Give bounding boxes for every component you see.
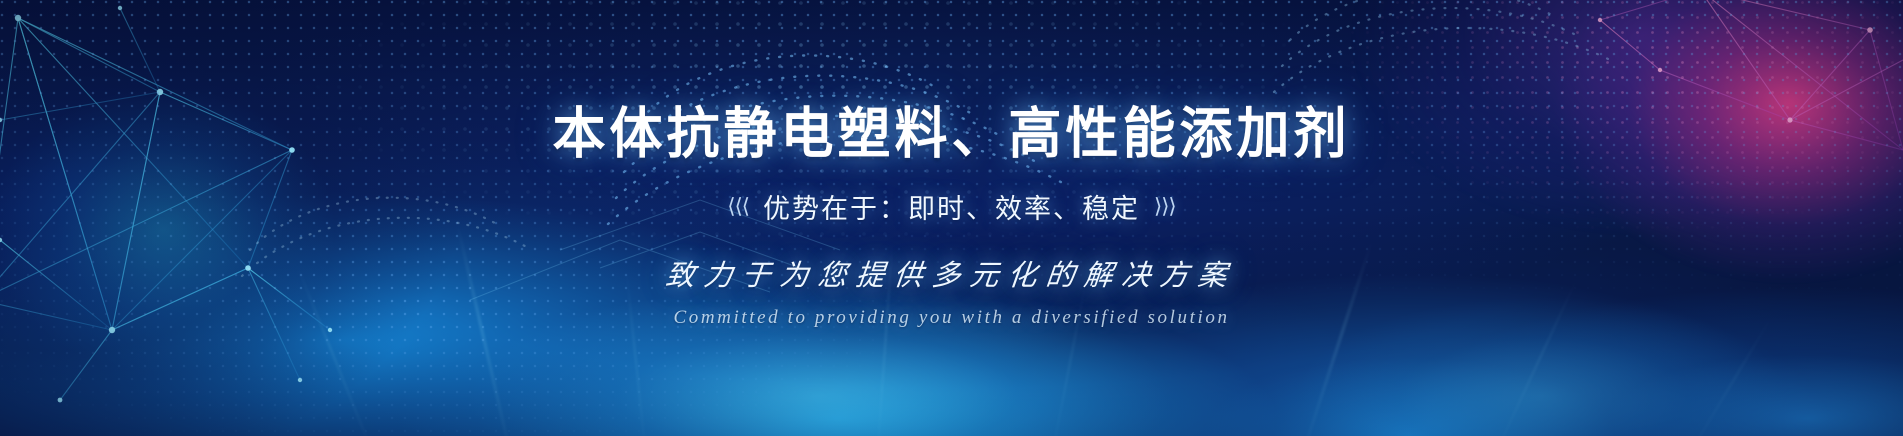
chevron-left-icon: ⟨⟨⟨ (727, 194, 749, 219)
banner-headline: 本体抗静电塑料、高性能添加剂 (553, 107, 1351, 162)
banner-script-tagline: 致力于为您提供多元化的解决方案 (664, 252, 1238, 294)
banner-content: 本体抗静电塑料、高性能添加剂 ⟨⟨⟨ 优势在于：即时、效率、稳定 ⟩⟩⟩ 致力于… (0, 0, 1903, 436)
banner-subtitle: 优势在于：即时、效率、稳定 (763, 187, 1140, 226)
banner-subtitle-row: ⟨⟨⟨ 优势在于：即时、效率、稳定 ⟩⟩⟩ (727, 187, 1175, 226)
banner-english-tagline: Committed to providing you with a divers… (673, 307, 1229, 329)
chevron-right-icon: ⟩⟩⟩ (1154, 194, 1176, 219)
hero-banner: 本体抗静电塑料、高性能添加剂 ⟨⟨⟨ 优势在于：即时、效率、稳定 ⟩⟩⟩ 致力于… (0, 0, 1903, 436)
